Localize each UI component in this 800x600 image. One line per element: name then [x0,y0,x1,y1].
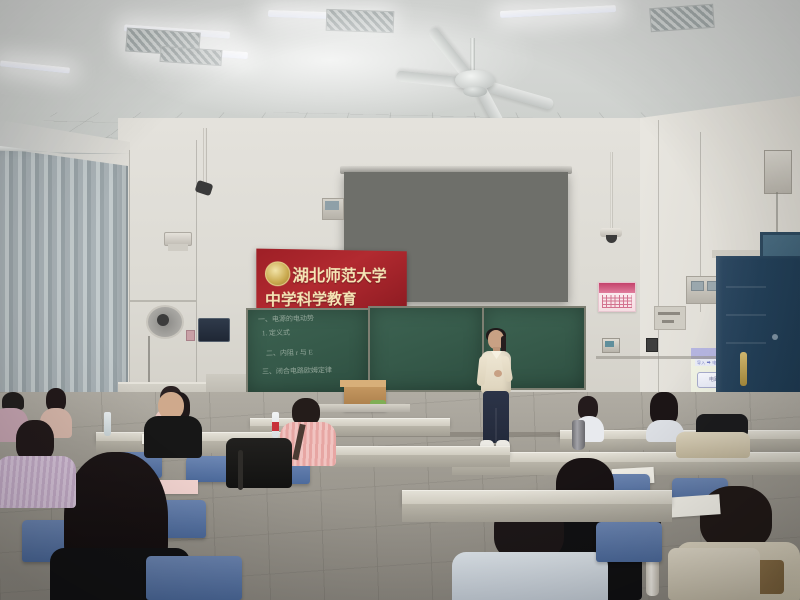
chair-back[interactable] [146,556,242,600]
wall-outlet[interactable] [186,330,195,341]
camera-mount-pole [610,152,613,230]
tote-bag [668,548,760,600]
university-seal-icon [265,261,290,286]
door-peephole-icon [772,334,778,340]
wall-monitor [198,318,230,342]
wall-speaker-grille [168,244,188,251]
wall-calendar-poster [598,282,636,312]
wall-fan-hub [157,314,169,326]
student-torso [144,416,202,458]
chair-back[interactable] [596,522,662,562]
room-sign [654,306,686,330]
camera-mount-pole [203,128,207,184]
cardboard-box-lid [340,380,386,387]
chalkboard-line: 三、闭合电路欧姆定律 [262,365,332,377]
chalkboard-line: 二、内阻 r 与 E [266,347,313,358]
water-bottle-label [272,422,279,431]
water-bottle [104,412,111,436]
classroom-photo: 导入 ➡ 电路分析 ➡ 等效模型 ➡ 实验探究 ➡ 理论推导 ➡ 小结与作业 小… [0,0,800,600]
room-sign-text-line [658,312,680,315]
presenter-trouser-seam [495,408,497,443]
desk-row-front [402,504,672,522]
student-torso [0,456,76,508]
desk-row-surface [402,490,672,505]
banner-line-1: 湖北师范大学 [292,262,386,287]
door-panel-line [726,342,766,344]
poster-header [599,283,635,293]
desk-row-front [330,455,510,467]
notebook [665,494,720,518]
wall-seam [196,140,197,390]
chalkboard-line: 一、电源的电动势 [258,313,314,324]
ac-panel-display [691,281,704,291]
calendar-grid [602,295,632,308]
wall-cable [148,336,150,384]
backpack-strap [238,450,243,490]
window-curtain[interactable] [0,148,128,418]
door-handle[interactable] [740,352,747,386]
ceiling-fan-light [463,86,487,97]
ceiling-fan-rod [470,38,475,74]
wall-seam [129,150,130,420]
wall-trim-line [130,300,196,302]
light-switch[interactable] [646,338,658,352]
chalkboard-group: 一、电源的电动势 1. 定义式 二、内阻 r 与 E 三、闭合电路欧姆定律 [246,306,582,392]
door-panel-line [726,286,766,288]
thermos [572,420,585,450]
chalkboard-line: 1. 定义式 [262,328,290,339]
breaker-cable [776,192,778,232]
projector-control-screen [325,201,339,210]
electrical-breaker-box[interactable] [764,150,792,194]
wall-skirting [596,356,716,359]
backpack [226,438,292,488]
presenter-hand [494,370,502,377]
tote-bag [676,432,750,458]
event-banner: 湖北师范大学 中学科学教育 [256,249,406,312]
room-sign-text-line [662,320,674,323]
presenter-teacher [470,330,522,462]
door-panel-line [726,314,766,316]
wall-seam [658,120,659,420]
student-torso [452,552,608,600]
card-reader-screen [605,341,614,347]
